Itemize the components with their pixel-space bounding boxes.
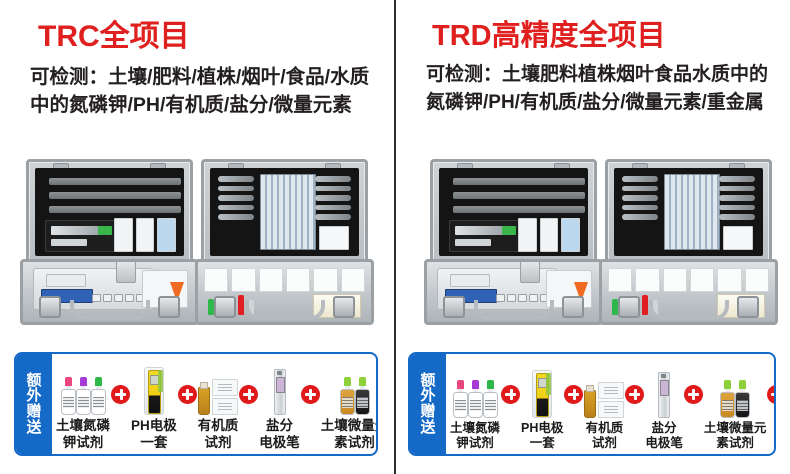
accessory-compartment — [449, 220, 523, 252]
page-title: TRD高精度全项目 — [396, 0, 790, 53]
test-tube-rack — [260, 174, 316, 250]
device-optical-tower — [520, 261, 540, 283]
gift-item-label: 有机质 试剂 — [586, 418, 624, 452]
case-lid-foam — [614, 168, 763, 256]
case-lid-foam — [210, 168, 359, 256]
gift-item-label: 土壤氮磷 钾试剂 — [56, 415, 110, 452]
product-comparison-page: TRC全项目 可检测：土壤/肥料/植株/烟叶/食品/水质 中的氮磷钾/PH/有机… — [0, 0, 790, 474]
gift-tab-char: 送 — [420, 420, 435, 436]
gift-item-label: PH电极 一套 — [521, 418, 563, 452]
tube-row — [719, 176, 755, 220]
test-tube-rack — [664, 174, 720, 250]
accessory-card — [455, 226, 503, 235]
case-body — [195, 259, 374, 325]
case-latch — [562, 296, 584, 318]
paper-sheet — [518, 218, 537, 252]
organic-matter-reagent-icon — [198, 363, 239, 415]
gift-item: 有机质 试剂 — [198, 358, 239, 452]
case-body — [424, 259, 603, 325]
panel-subtitle: 可检测：土壤肥料植株烟叶食品水质中的 氮磷钾/PH/有机质/盐分/微量元素/重金… — [396, 53, 790, 117]
bonus-gift-bar: 额 外 赠 送 土壤氮磷 钾试剂 — [14, 352, 378, 456]
panel-trc: TRC全项目 可检测：土壤/肥料/植株/烟叶/食品/水质 中的氮磷钾/PH/有机… — [0, 0, 394, 474]
test-strip-card — [319, 226, 349, 250]
paper-sheet — [540, 218, 559, 252]
gift-item-label: 土壤微量元 素试剂 — [321, 415, 378, 452]
case-lid-foam — [439, 168, 588, 256]
product-photo-right — [404, 143, 790, 333]
gift-label-line: 试剂 — [198, 435, 239, 452]
npk-reagent-bottles-icon — [56, 363, 110, 415]
accessory-card — [51, 226, 99, 235]
gift-item-label: 盐分 电极笔 — [259, 415, 300, 452]
plus-icon — [501, 385, 520, 404]
gift-item-list: 土壤氮磷 钾试剂 PH电极 一套 — [52, 354, 378, 454]
bonus-gift-label: 额 外 赠 送 — [16, 354, 52, 454]
gift-label-line: 钾试剂 — [56, 435, 110, 452]
gift-item: 盐分 电极笔 — [645, 358, 683, 452]
tube-row — [218, 176, 254, 220]
gift-item: PH电极 一套 — [131, 358, 177, 452]
gift-label-line: 电极笔 — [645, 436, 683, 452]
case-latch — [214, 296, 236, 318]
plus-icon — [178, 385, 197, 404]
gift-tab-char: 额 — [420, 373, 435, 389]
device-cuvette-pad — [46, 274, 86, 287]
accessory-card — [51, 239, 87, 246]
micro-element-reagent-bottles-icon — [704, 366, 767, 418]
tube-rack-slot — [49, 192, 181, 199]
accessory-green-tag — [502, 226, 516, 235]
plus-icon — [684, 385, 703, 404]
case-body — [20, 259, 199, 325]
case-lid — [605, 159, 772, 265]
gift-item: 盐分 电极笔 — [259, 358, 300, 452]
gift-item-label: PH电极 一套 — [131, 415, 177, 452]
gift-item-list: 土壤氮磷 钾试剂 PH电极 一套 — [446, 354, 776, 454]
tube-rack-slot — [49, 178, 181, 185]
gift-item-label: 盐分 电极笔 — [645, 418, 683, 452]
reagent-case-photo — [193, 155, 376, 333]
gift-label-line: 土壤氮磷 — [56, 418, 110, 435]
tube-rack-slot — [453, 192, 585, 199]
gift-label-line: 有机质 — [586, 421, 624, 437]
gift-label-line: 试剂 — [586, 436, 624, 452]
gift-item: 有机质 试剂 — [584, 358, 624, 452]
gift-label-line: 土壤氮磷 — [450, 421, 500, 437]
gift-label-line: 土壤微量元 — [704, 421, 767, 437]
salinity-pen-icon — [259, 363, 300, 415]
reagent-pouch-row — [204, 268, 365, 292]
npk-reagent-bottles-icon — [450, 366, 500, 418]
page-title: TRC全项目 — [0, 0, 394, 55]
case-latch — [443, 296, 465, 318]
subtitle-line-2: 氮磷钾/PH/有机质/盐分/微量元素/重金属 — [426, 89, 790, 117]
tube-rack-slot — [49, 206, 181, 213]
accessory-compartment — [45, 220, 119, 252]
paper-sheet — [561, 218, 580, 252]
gift-label-line: 盐分 — [645, 421, 683, 437]
tube-row — [315, 176, 351, 220]
gift-item: 土壤氮磷 钾试剂 — [450, 358, 500, 452]
plus-icon — [111, 385, 130, 404]
panel-trd: TRD高精度全项目 可检测：土壤肥料植株烟叶食品水质中的 氮磷钾/PH/有机质/… — [396, 0, 790, 474]
gift-item-label: 有机质 试剂 — [198, 415, 239, 452]
gift-tab-char: 赠 — [420, 404, 435, 420]
gift-label-line: PH电极 — [521, 421, 563, 437]
gift-label-line: 一套 — [131, 435, 177, 452]
case-latch — [618, 296, 640, 318]
gift-label-line: 素试剂 — [704, 436, 767, 452]
gift-tab-char: 外 — [26, 388, 41, 404]
plus-icon — [564, 385, 583, 404]
gift-label-line: 有机质 — [198, 418, 239, 435]
tube-row — [622, 176, 658, 220]
paper-sheet — [114, 218, 133, 252]
salinity-pen-icon — [645, 366, 683, 418]
reagent-case-photo — [597, 155, 780, 333]
case-handle — [245, 300, 325, 320]
case-handle — [649, 300, 729, 320]
gift-tab-char: 送 — [26, 420, 41, 436]
case-handle — [474, 300, 554, 320]
bonus-gift-label: 额 外 赠 送 — [410, 354, 446, 454]
panel-subtitle: 可检测：土壤/肥料/植株/烟叶/食品/水质 中的氮磷钾/PH/有机质/盐分/微量… — [0, 55, 394, 121]
case-latch — [158, 296, 180, 318]
tube-rack-slot — [453, 206, 585, 213]
product-photo-left — [0, 143, 394, 333]
case-latch — [333, 296, 355, 318]
case-lid-foam — [35, 168, 184, 256]
plus-icon — [239, 385, 258, 404]
device-optical-tower — [116, 261, 136, 283]
gift-tab-char: 赠 — [26, 404, 41, 420]
gift-label-line: 电极笔 — [259, 435, 300, 452]
gift-label-line: PH电极 — [131, 418, 177, 435]
case-lid — [430, 159, 597, 265]
test-strip-card — [723, 226, 753, 250]
paper-sheet — [136, 218, 155, 252]
subtitle-line-2: 中的氮磷钾/PH/有机质/盐分/微量元素 — [30, 91, 394, 120]
case-handle — [70, 300, 150, 320]
plus-icon — [301, 385, 320, 404]
gift-tab-char: 外 — [420, 388, 435, 404]
gift-item-label: 土壤微量元 素试剂 — [704, 418, 767, 452]
gift-label-line: 盐分 — [259, 418, 300, 435]
accessory-card — [455, 239, 491, 246]
plus-icon — [767, 385, 776, 404]
instrument-case-photo — [18, 155, 201, 333]
case-latch — [39, 296, 61, 318]
gift-item: 土壤微量元 素试剂 — [704, 358, 767, 452]
paper-sheet — [157, 218, 176, 252]
plus-icon — [625, 385, 644, 404]
tube-rack-slot — [453, 178, 585, 185]
accessory-green-tag — [98, 226, 112, 235]
instrument-case-photo — [422, 155, 605, 333]
gift-item: PH电极 一套 — [521, 358, 563, 452]
gift-label-line: 土壤微量元 — [321, 418, 378, 435]
case-body — [599, 259, 778, 325]
case-lid — [26, 159, 193, 265]
ph-electrode-icon — [131, 363, 177, 415]
gift-item: 土壤氮磷 钾试剂 — [56, 358, 110, 452]
reagent-pouch-row — [608, 268, 769, 292]
bonus-gift-bar: 额 外 赠 送 土壤氮磷 钾试剂 — [408, 352, 776, 456]
subtitle-line-1: 可检测：土壤肥料植株烟叶食品水质中的 — [426, 61, 790, 89]
manual-papers — [114, 218, 176, 252]
manual-papers — [518, 218, 580, 252]
gift-label-line: 素试剂 — [321, 435, 378, 452]
gift-tab-char: 额 — [26, 373, 41, 389]
gift-item: 土壤微量元 素试剂 — [321, 358, 378, 452]
case-latch — [737, 296, 759, 318]
gift-label-line: 一套 — [521, 436, 563, 452]
subtitle-line-1: 可检测：土壤/肥料/植株/烟叶/食品/水质 — [30, 63, 394, 92]
gift-label-line: 钾试剂 — [450, 436, 500, 452]
case-lid — [201, 159, 368, 265]
ph-electrode-icon — [521, 366, 563, 418]
micro-element-reagent-bottles-icon — [321, 363, 378, 415]
gift-item-label: 土壤氮磷 钾试剂 — [450, 418, 500, 452]
device-cuvette-pad — [450, 274, 490, 287]
organic-matter-reagent-icon — [584, 366, 624, 418]
